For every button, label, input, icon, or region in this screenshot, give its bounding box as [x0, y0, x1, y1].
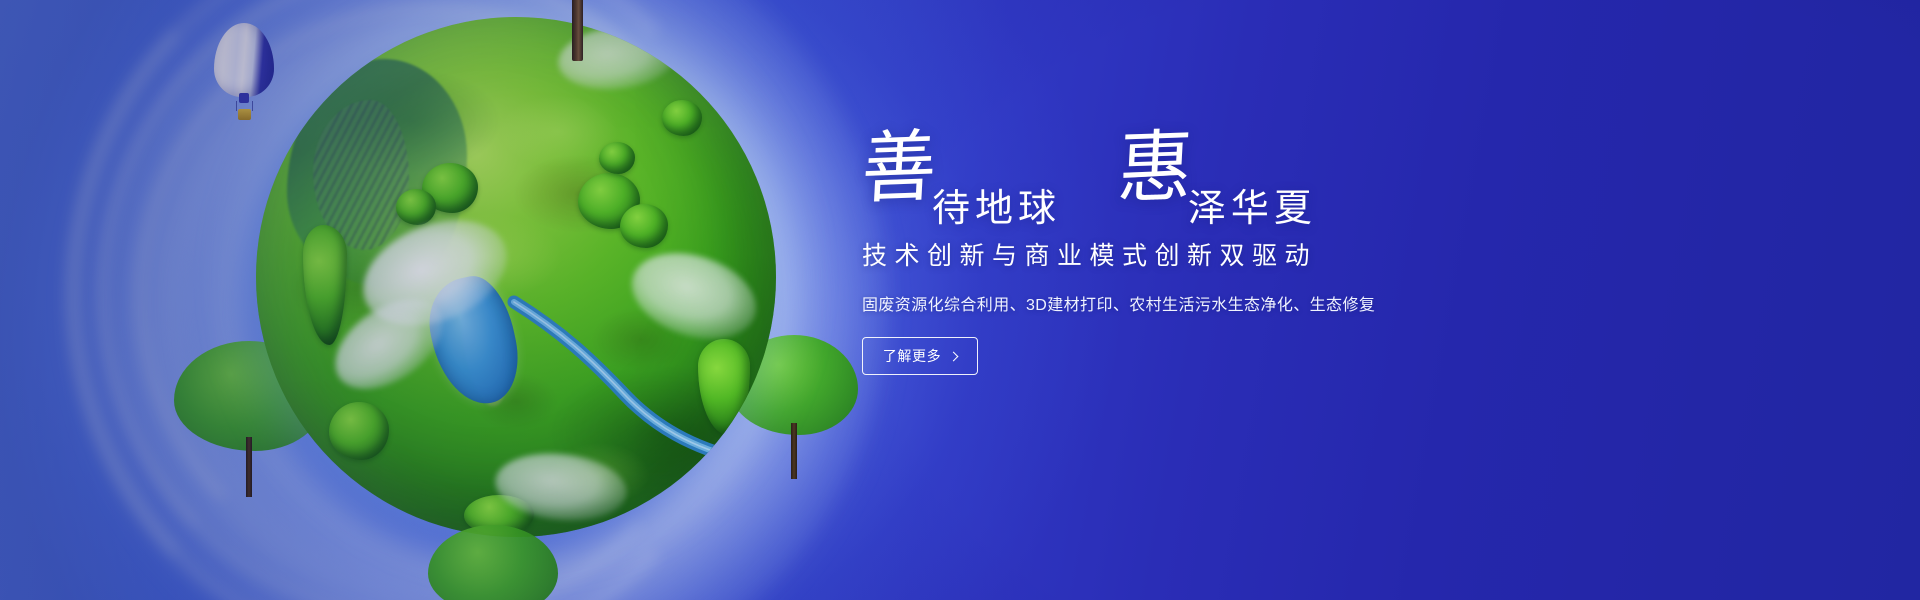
headline-calligraphy-char-2: 惠 — [1116, 129, 1194, 210]
headline-phrase-2: 惠泽华夏 — [1118, 126, 1321, 200]
hero-banner: 善待地球 惠泽华夏 技术创新与商业模式创新双驱动 固废资源化综合利用、3D建材打… — [0, 0, 1920, 600]
headline-phrase-1: 善待地球 — [862, 126, 1065, 200]
chevron-right-icon — [949, 351, 959, 361]
hero-subtitle: 技术创新与商业模式创新双驱动 — [862, 236, 1462, 272]
page-title: 善待地球 惠泽华夏 — [862, 126, 1462, 222]
learn-more-button[interactable]: 了解更多 — [862, 337, 978, 375]
headline-calligraphy-char-1: 善 — [860, 129, 938, 210]
headline-rest-2: 泽华夏 — [1188, 190, 1317, 228]
headline-rest-1: 待地球 — [932, 190, 1061, 228]
hero-content: 善待地球 惠泽华夏 技术创新与商业模式创新双驱动 固废资源化综合利用、3D建材打… — [862, 126, 1462, 375]
learn-more-label: 了解更多 — [883, 346, 941, 366]
hero-description: 固废资源化综合利用、3D建材打印、农村生活污水生态净化、生态修复 — [862, 291, 1462, 315]
